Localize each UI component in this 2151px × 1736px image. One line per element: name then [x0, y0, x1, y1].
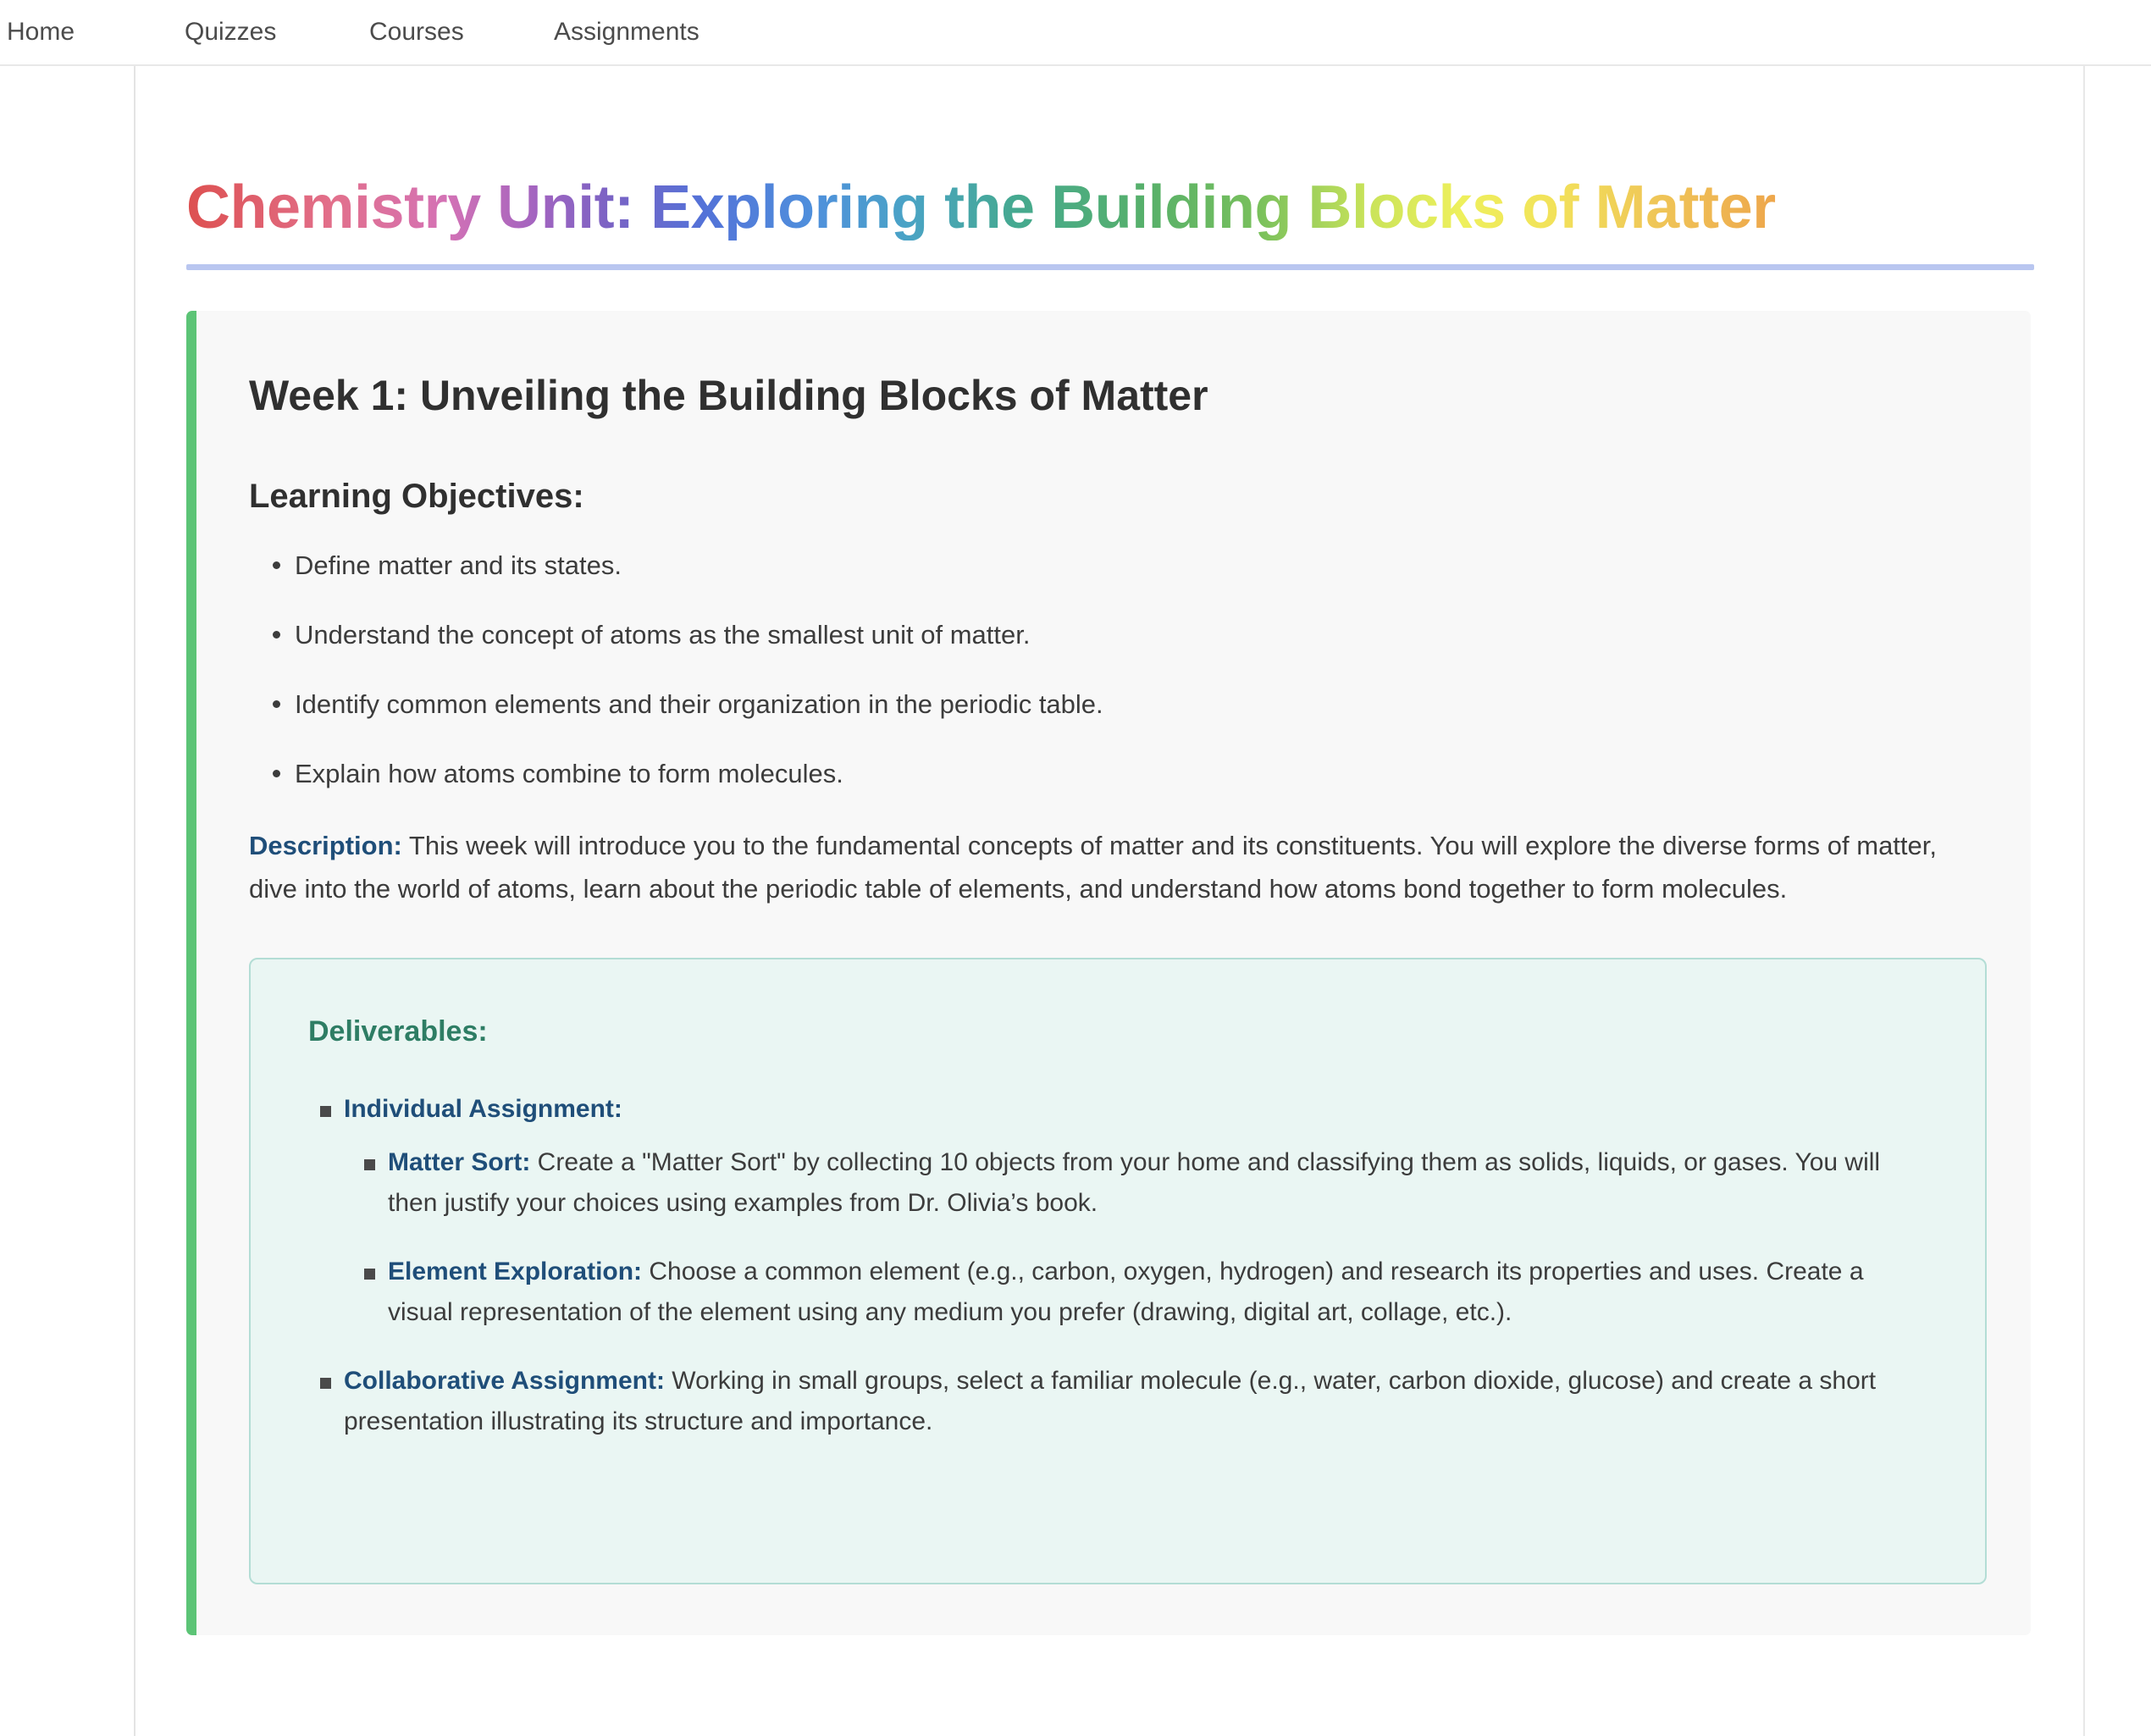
- list-item: Explain how atoms combine to form molecu…: [295, 756, 1978, 792]
- list-item: Understand the concept of atoms as the s…: [295, 617, 1978, 653]
- week-card: Week 1: Unveiling the Building Blocks of…: [186, 311, 2031, 1635]
- list-item-individual-assignment: Individual Assignment: Matter Sort: Crea…: [344, 1089, 1933, 1334]
- nav-item-courses[interactable]: Courses: [369, 0, 554, 65]
- matter-sort-text: Create a "Matter Sort" by collecting 10 …: [388, 1148, 1880, 1218]
- matter-sort-label: Matter Sort:: [388, 1148, 530, 1176]
- list-item: Element Exploration: Choose a common ele…: [388, 1252, 1933, 1334]
- description-label: Description:: [249, 831, 402, 860]
- description-text: This week will introduce you to the fund…: [249, 831, 1937, 903]
- learning-objectives-heading: Learning Objectives:: [249, 478, 1978, 516]
- list-item: Matter Sort: Create a "Matter Sort" by c…: [388, 1142, 1933, 1225]
- main-content-column: Chemistry Unit: Exploring the Building B…: [135, 66, 2085, 1736]
- deliverables-title: Deliverables:: [308, 1015, 1933, 1048]
- left-gutter: [0, 66, 135, 1736]
- list-item: Identify common elements and their organ…: [295, 687, 1978, 722]
- top-navigation-bar: Home Quizzes Courses Assignments: [0, 0, 2151, 66]
- right-gutter: [2085, 66, 2151, 1736]
- individual-assignment-label: Individual Assignment:: [344, 1095, 622, 1123]
- page-body: Chemistry Unit: Exploring the Building B…: [0, 66, 2151, 1736]
- nav-item-home[interactable]: Home: [7, 0, 185, 65]
- list-item: Define matter and its states.: [295, 548, 1978, 583]
- page-title: Chemistry Unit: Exploring the Building B…: [186, 176, 2032, 240]
- deliverables-box: Deliverables: Individual Assignment: Mat…: [249, 958, 1987, 1584]
- title-divider: [186, 264, 2034, 270]
- nav-item-quizzes[interactable]: Quizzes: [185, 0, 369, 65]
- list-item-collaborative-assignment: Collaborative Assignment: Working in sma…: [344, 1361, 1933, 1443]
- week-description: Description: This week will introduce yo…: [249, 825, 1978, 909]
- nav-item-assignments[interactable]: Assignments: [554, 0, 791, 65]
- deliverables-list: Individual Assignment: Matter Sort: Crea…: [288, 1089, 1933, 1443]
- collaborative-assignment-label: Collaborative Assignment:: [344, 1367, 665, 1395]
- title-block: Chemistry Unit: Exploring the Building B…: [135, 176, 2083, 270]
- learning-objectives-list: Define matter and its states. Understand…: [249, 548, 1978, 791]
- element-exploration-label: Element Exploration:: [388, 1258, 642, 1285]
- individual-assignment-sublist: Matter Sort: Create a "Matter Sort" by c…: [344, 1142, 1933, 1334]
- week-heading: Week 1: Unveiling the Building Blocks of…: [249, 372, 1978, 421]
